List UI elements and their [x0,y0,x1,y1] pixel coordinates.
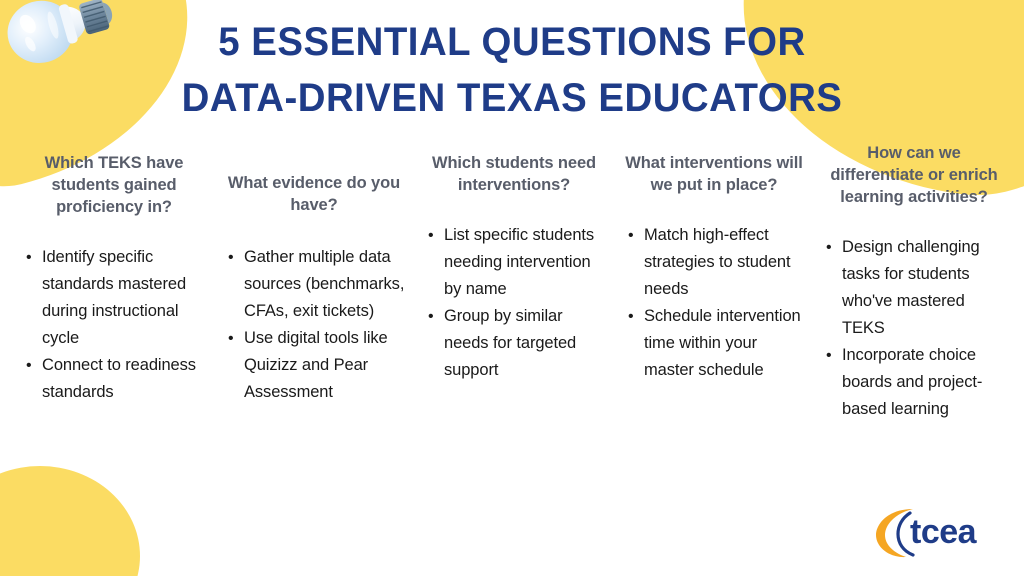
yellow-blob-bottom-left-decoration [0,466,140,576]
tcea-logo: tcea [872,504,1002,562]
bullet-list: Gather multiple data sources (benchmarks… [220,244,408,406]
title-line-1: 5 ESSENTIAL QUESTIONS FOR [20,14,1003,70]
column-heading: What evidence do you have? [220,172,408,216]
title-line-2: DATA-DRIVEN TEXAS EDUCATORS [20,70,1003,126]
list-item: Incorporate choice boards and project-ba… [842,342,1008,423]
column-heading: How can we differentiate or enrich learn… [820,142,1008,208]
column-which-students: Which students need interventions? List … [414,142,614,384]
column-how-differentiate: How can we differentiate or enrich learn… [814,142,1014,423]
column-which-teks: Which TEKS have students gained proficie… [14,142,214,406]
bullet-list: List specific students needing intervent… [420,222,608,384]
column-heading: What interventions will we put in place? [620,152,808,196]
list-item: Identify specific standards mastered dur… [42,244,208,352]
infographic-slide: 5 ESSENTIAL QUESTIONS FOR DATA-DRIVEN TE… [0,0,1024,576]
list-item: Connect to readiness standards [42,352,208,406]
page-title: 5 ESSENTIAL QUESTIONS FOR DATA-DRIVEN TE… [0,14,1024,126]
bullet-list: Match high-effect strategies to student … [620,222,808,384]
list-item: Group by similar needs for targeted supp… [444,303,608,384]
list-item: Use digital tools like Quizizz and Pear … [244,325,408,406]
bullet-list: Design challenging tasks for students wh… [820,234,1008,423]
column-heading: Which students need interventions? [420,152,608,196]
list-item: Schedule intervention time within your m… [644,303,808,384]
list-item: List specific students needing intervent… [444,222,608,303]
column-heading: Which TEKS have students gained proficie… [20,152,208,218]
bullet-list: Identify specific standards mastered dur… [20,244,208,406]
list-item: Gather multiple data sources (benchmarks… [244,244,408,325]
list-item: Design challenging tasks for students wh… [842,234,1008,342]
column-what-evidence: What evidence do you have? Gather multip… [214,142,414,406]
list-item: Match high-effect strategies to student … [644,222,808,303]
column-what-interventions: What interventions will we put in place?… [614,142,814,384]
columns-container: Which TEKS have students gained proficie… [14,142,1014,423]
tcea-logo-text: tcea [910,512,976,552]
